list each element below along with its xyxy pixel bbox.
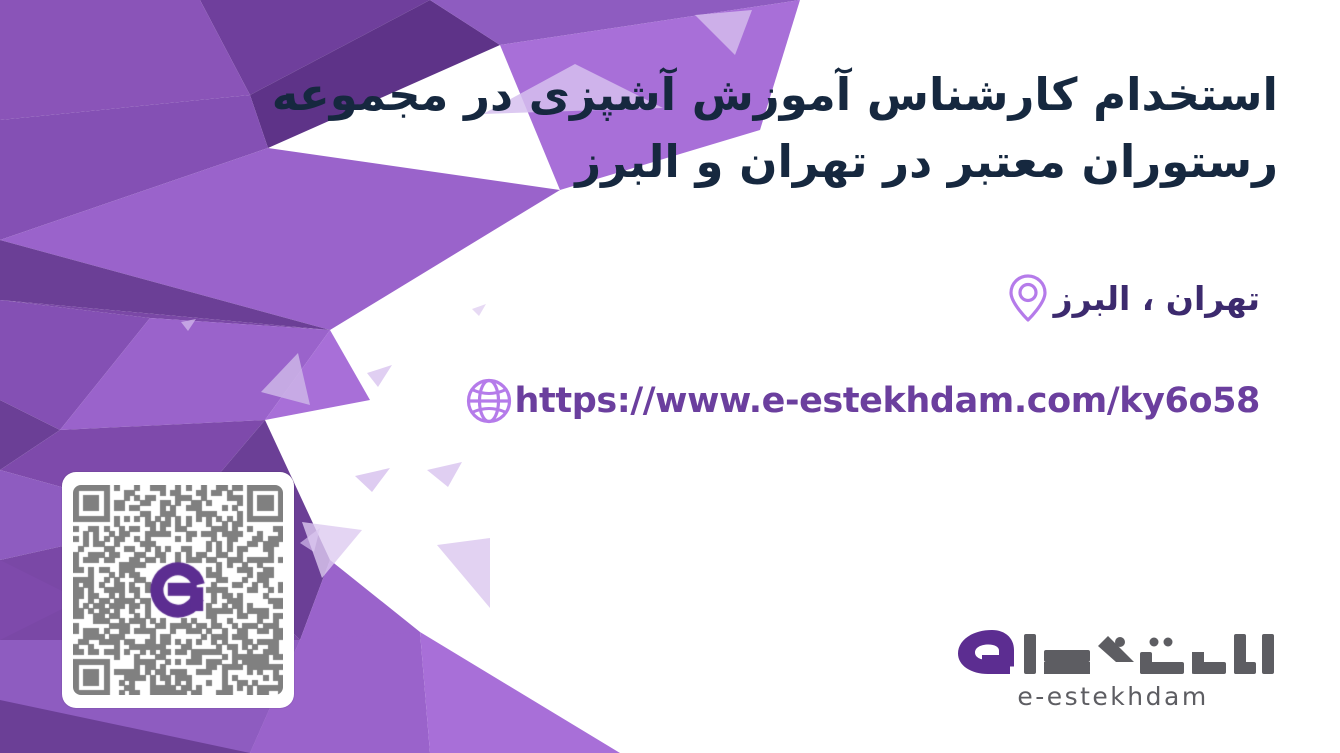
brand-logo: e-estekhdam	[948, 622, 1278, 711]
qr-code[interactable]	[62, 472, 294, 708]
job-url-text[interactable]: https://www.e-estekhdam.com/ky6o58	[515, 381, 1260, 421]
logo-wordmark-fa	[948, 622, 1278, 680]
location-row: تهران ، البرز	[1002, 272, 1278, 324]
location-text: تهران ، البرز	[1054, 279, 1260, 318]
link-row[interactable]: https://www.e-estekhdam.com/ky6o58	[463, 375, 1278, 427]
qr-code-canvas[interactable]	[73, 485, 283, 695]
map-pin-icon	[1002, 272, 1054, 324]
job-ad-card: استخدام کارشناس آموزش آشپزی در مجموعه رس…	[0, 0, 1340, 753]
title-line-2: رستوران معتبر در تهران و البرز	[348, 129, 1278, 196]
logo-wordmark-en: e-estekhdam	[948, 682, 1278, 711]
title-line-1: استخدام کارشناس آموزش آشپزی در مجموعه	[348, 62, 1278, 129]
globe-icon	[463, 375, 515, 427]
page-title: استخدام کارشناس آموزش آشپزی در مجموعه رس…	[348, 62, 1278, 195]
